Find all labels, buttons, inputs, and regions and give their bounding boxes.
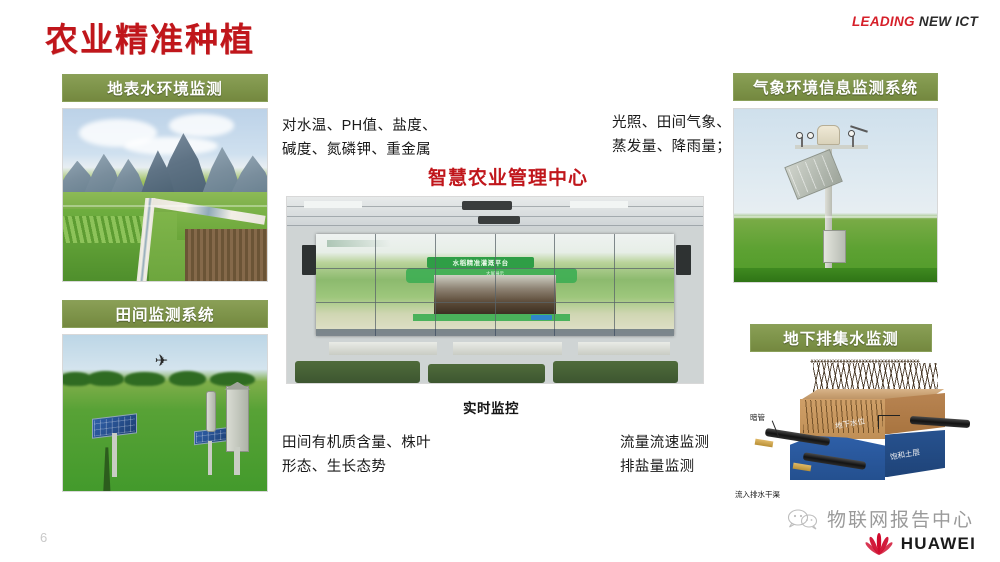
panel-label-drainage-text: 地下排集水监测 <box>783 327 899 349</box>
control-room-video-wall-photo: 水稻精准灌溉平台 大屏展示 <box>286 196 704 384</box>
drainage-label-pipe: 暗管 <box>750 412 765 423</box>
panel-label-surface-water: 地表水环境监测 <box>62 74 268 102</box>
drainage-description: 流量流速监测 排盐量监测 <box>620 432 780 480</box>
leading-new-ict-logo: LEADING NEW ICT <box>852 14 978 29</box>
panel-label-weather-text: 气象环境信息监测系统 <box>753 76 918 98</box>
page-title: 农业精准种植 <box>45 13 255 61</box>
brand-newict-text: NEW ICT <box>915 14 978 29</box>
page-number: 6 <box>40 530 47 545</box>
underground-drainage-diagram: ⚹⚹⚹⚹⚹⚹⚹⚹⚹⚹⚹⚹⚹⚹⚹⚹⚹⚹⚹⚹⚹⚹⚹⚹⚹⚹⚹⚹⚹⚹⚹⚹⚹⚹ <box>735 356 985 504</box>
center-caption: 实时监控 <box>463 397 519 417</box>
karst-paddy-canal-photo <box>62 108 268 282</box>
center-heading: 智慧农业管理中心 <box>428 163 588 190</box>
wechat-bubble-icon <box>786 508 820 530</box>
video-wall-title: 水稻精准灌溉平台 <box>427 257 534 268</box>
panel-label-weather: 气象环境信息监测系统 <box>733 73 938 101</box>
panel-label-surface-water-text: 地表水环境监测 <box>107 77 223 99</box>
wechat-watermark: 物联网报告中心 <box>786 505 974 532</box>
huawei-flower-icon <box>864 532 894 556</box>
panel-label-field-monitor-text: 田间监测系统 <box>115 303 214 325</box>
field-sensor-drone-photo: ✈ <box>62 334 268 492</box>
weather-description: 光照、田间气象、 蒸发量、降雨量； <box>612 112 762 160</box>
panel-label-drainage: 地下排集水监测 <box>750 324 932 352</box>
brand-leading-text: LEADING <box>852 14 915 29</box>
slide-root: 农业精准种植 LEADING NEW ICT 地表水环境监测 <box>0 0 1000 562</box>
watermark-text: 物联网报告中心 <box>827 505 974 532</box>
huawei-logo: HUAWEI <box>864 532 976 556</box>
panel-label-field-monitor: 田间监测系统 <box>62 300 268 328</box>
huawei-wordmark: HUAWEI <box>901 534 976 554</box>
weather-station-photo <box>733 108 938 283</box>
drone-icon: ✈ <box>155 354 168 370</box>
surface-water-description: 对水温、PH值、盐度、 碱度、氮磷钾、重金属 <box>282 115 482 163</box>
field-monitor-description: 田间有机质含量、株叶 形态、生长态势 <box>282 432 502 480</box>
drainage-label-outflow: 流入排水干渠 <box>735 489 780 500</box>
